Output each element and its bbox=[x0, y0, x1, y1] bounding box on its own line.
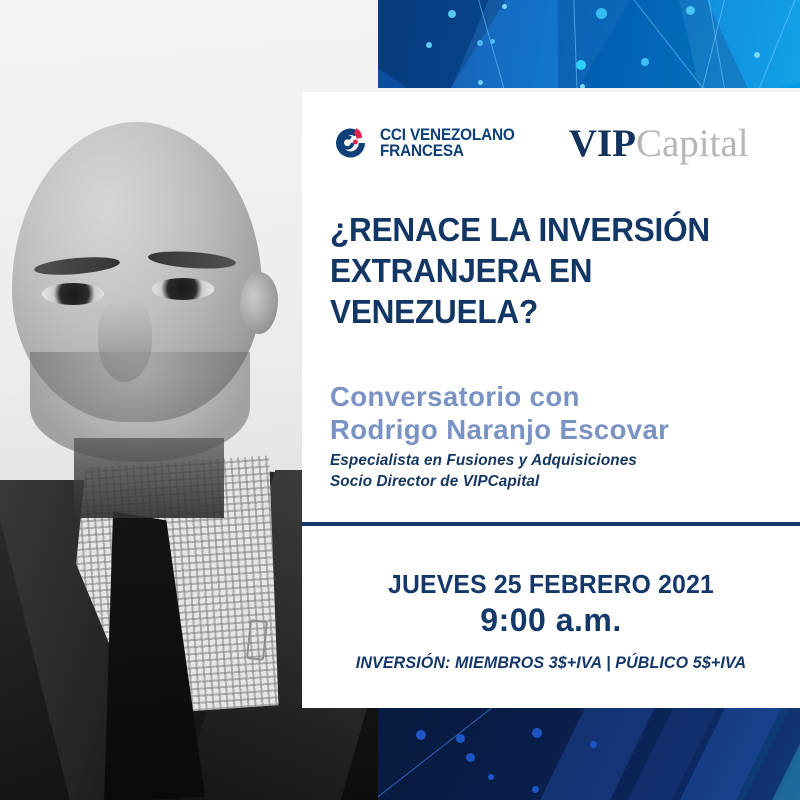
speaker-role-1: Especialista en Fusiones y Adquisiciones bbox=[330, 450, 780, 471]
speaker-roles: Especialista en Fusiones y Adquisiciones… bbox=[330, 450, 780, 492]
banner-dot bbox=[686, 6, 695, 15]
banner-dot bbox=[576, 60, 586, 70]
page-title: ¿RENACE LA INVERSIÓN EXTRANJERA EN VENEZ… bbox=[330, 210, 744, 333]
banner-dot bbox=[477, 40, 483, 46]
bottom-dot bbox=[416, 730, 426, 740]
speaker-role-2: Socio Director de VIPCapital bbox=[330, 471, 780, 492]
portrait-neck bbox=[74, 438, 224, 518]
speaker-name: Rodrigo Naranjo Escovar bbox=[330, 413, 780, 446]
event-flyer: CCI VENEZOLANO FRANCESA VIPCapital ¿RENA… bbox=[0, 0, 800, 800]
bottom-dot bbox=[466, 753, 475, 762]
bottom-line-1 bbox=[378, 708, 495, 800]
bottom-dot bbox=[532, 786, 539, 793]
banner-polygon-4 bbox=[678, 0, 800, 88]
bottom-dot bbox=[488, 774, 494, 780]
vip-logo-bold: VIP bbox=[569, 122, 636, 165]
logo-row: CCI VENEZOLANO FRANCESA VIPCapital bbox=[330, 114, 780, 172]
bottom-dot bbox=[532, 728, 542, 738]
bottom-dot bbox=[456, 734, 465, 743]
banner-dot bbox=[580, 84, 585, 88]
cci-circle-icon bbox=[330, 122, 372, 164]
top-blue-banner bbox=[378, 0, 800, 88]
banner-dot bbox=[426, 42, 432, 48]
cci-logo-line2: FRANCESA bbox=[380, 143, 515, 160]
event-time: 9:00 a.m. bbox=[302, 600, 800, 640]
portrait-eye-left bbox=[42, 283, 104, 305]
event-date: JUEVES 25 FEBRERO 2021 bbox=[309, 570, 792, 601]
cci-logo-line1: CCI VENEZOLANO bbox=[380, 127, 515, 144]
banner-dot bbox=[641, 58, 649, 66]
banner-dot bbox=[596, 8, 607, 19]
content-card: CCI VENEZOLANO FRANCESA VIPCapital ¿RENA… bbox=[302, 92, 800, 708]
banner-dot bbox=[478, 80, 483, 85]
banner-dot bbox=[490, 39, 495, 44]
speaker-intro: Conversatorio con bbox=[330, 380, 780, 413]
portrait-eye-right bbox=[152, 278, 214, 300]
vipcapital-logo: VIPCapital bbox=[569, 124, 749, 163]
event-price: INVERSIÓN: MIEMBROS 3$+IVA | PÚBLICO 5$+… bbox=[307, 652, 795, 674]
banner-dot bbox=[754, 52, 760, 58]
cci-venezolano-francesa-logo: CCI VENEZOLANO FRANCESA bbox=[330, 122, 525, 164]
divider bbox=[302, 522, 800, 526]
speaker-block: Conversatorio con Rodrigo Naranjo Escova… bbox=[330, 380, 780, 446]
vip-logo-light: Capital bbox=[636, 122, 749, 165]
cci-logo-text: CCI VENEZOLANO FRANCESA bbox=[380, 127, 515, 160]
banner-dot bbox=[448, 10, 456, 18]
bottom-navy-banner bbox=[378, 708, 800, 800]
bottom-dot bbox=[590, 741, 597, 748]
banner-dot bbox=[502, 4, 507, 9]
